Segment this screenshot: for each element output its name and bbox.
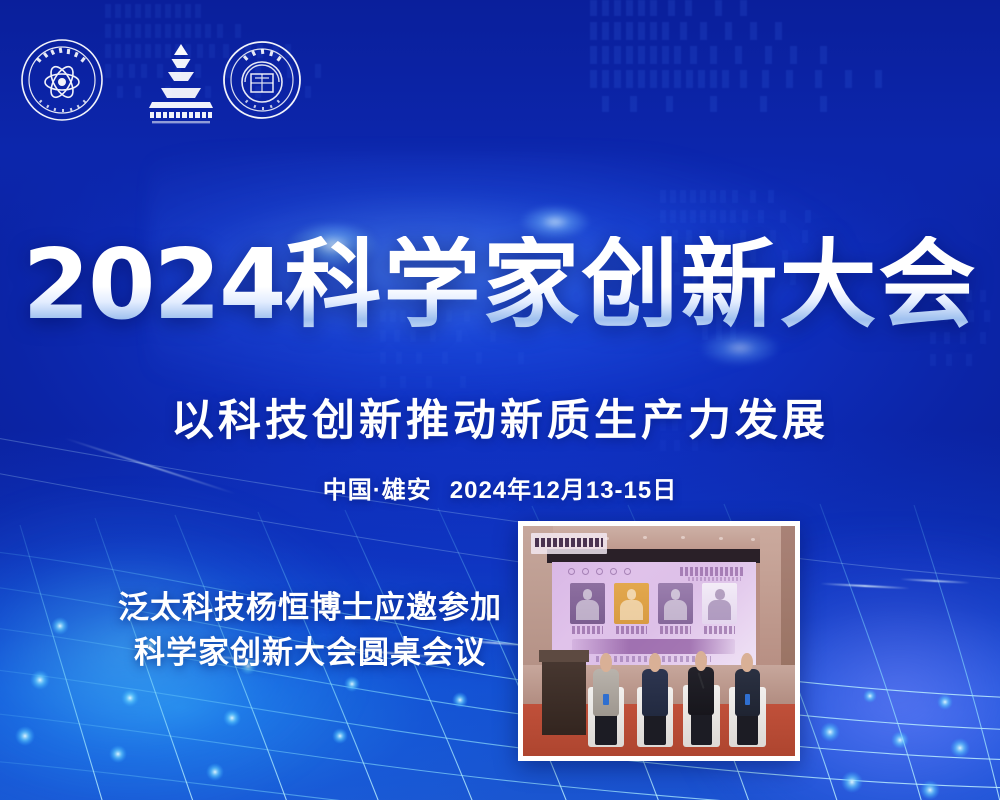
- organizer-logos: [20, 30, 320, 130]
- screen-brand-text: [680, 567, 745, 576]
- screen-logo-icons: [568, 568, 631, 575]
- event-location: 中国·雄安: [323, 477, 432, 504]
- photo-panelist: [730, 643, 765, 747]
- title-text: 科学家创新大会: [284, 230, 977, 339]
- location-date-bar: 中国·雄安2024年12月13-15日: [0, 470, 1000, 505]
- institute-emblem-logo: [222, 40, 302, 120]
- photo-podium: [542, 650, 586, 735]
- conference-triangle-logo: [138, 38, 224, 126]
- page-subtitle: 以科技创新推动新质生产力发展: [0, 386, 1000, 448]
- panel-photo: [523, 526, 795, 756]
- panel-photo-frame: [518, 521, 800, 761]
- photo-panelist: [588, 643, 623, 747]
- page-title: 2024科学家创新大会: [0, 236, 1000, 333]
- photo-panelist: [637, 643, 672, 747]
- portrait-card: [570, 583, 605, 635]
- cast-emblem-logo: [20, 38, 104, 122]
- caption-line-1: 泛太科技杨恒博士应邀参加: [110, 586, 510, 631]
- conference-poster: 2024科学家创新大会 以科技创新推动新质生产力发展 中国·雄安2024年12月…: [0, 0, 1000, 800]
- portrait-card: [614, 583, 649, 635]
- title-year: 2024: [23, 228, 285, 341]
- event-caption: 泛太科技杨恒博士应邀参加 科学家创新大会圆桌会议: [110, 586, 510, 676]
- event-dates: 2024年12月13-15日: [450, 477, 677, 504]
- screen-portrait-row: [570, 583, 737, 635]
- caption-line-2: 科学家创新大会圆桌会议: [110, 631, 510, 676]
- portrait-card: [658, 583, 693, 635]
- photo-panelist: [683, 641, 718, 747]
- portrait-card: [702, 583, 737, 635]
- screen-brand-subtext: [688, 577, 741, 581]
- photo-stage-banner: [531, 533, 607, 554]
